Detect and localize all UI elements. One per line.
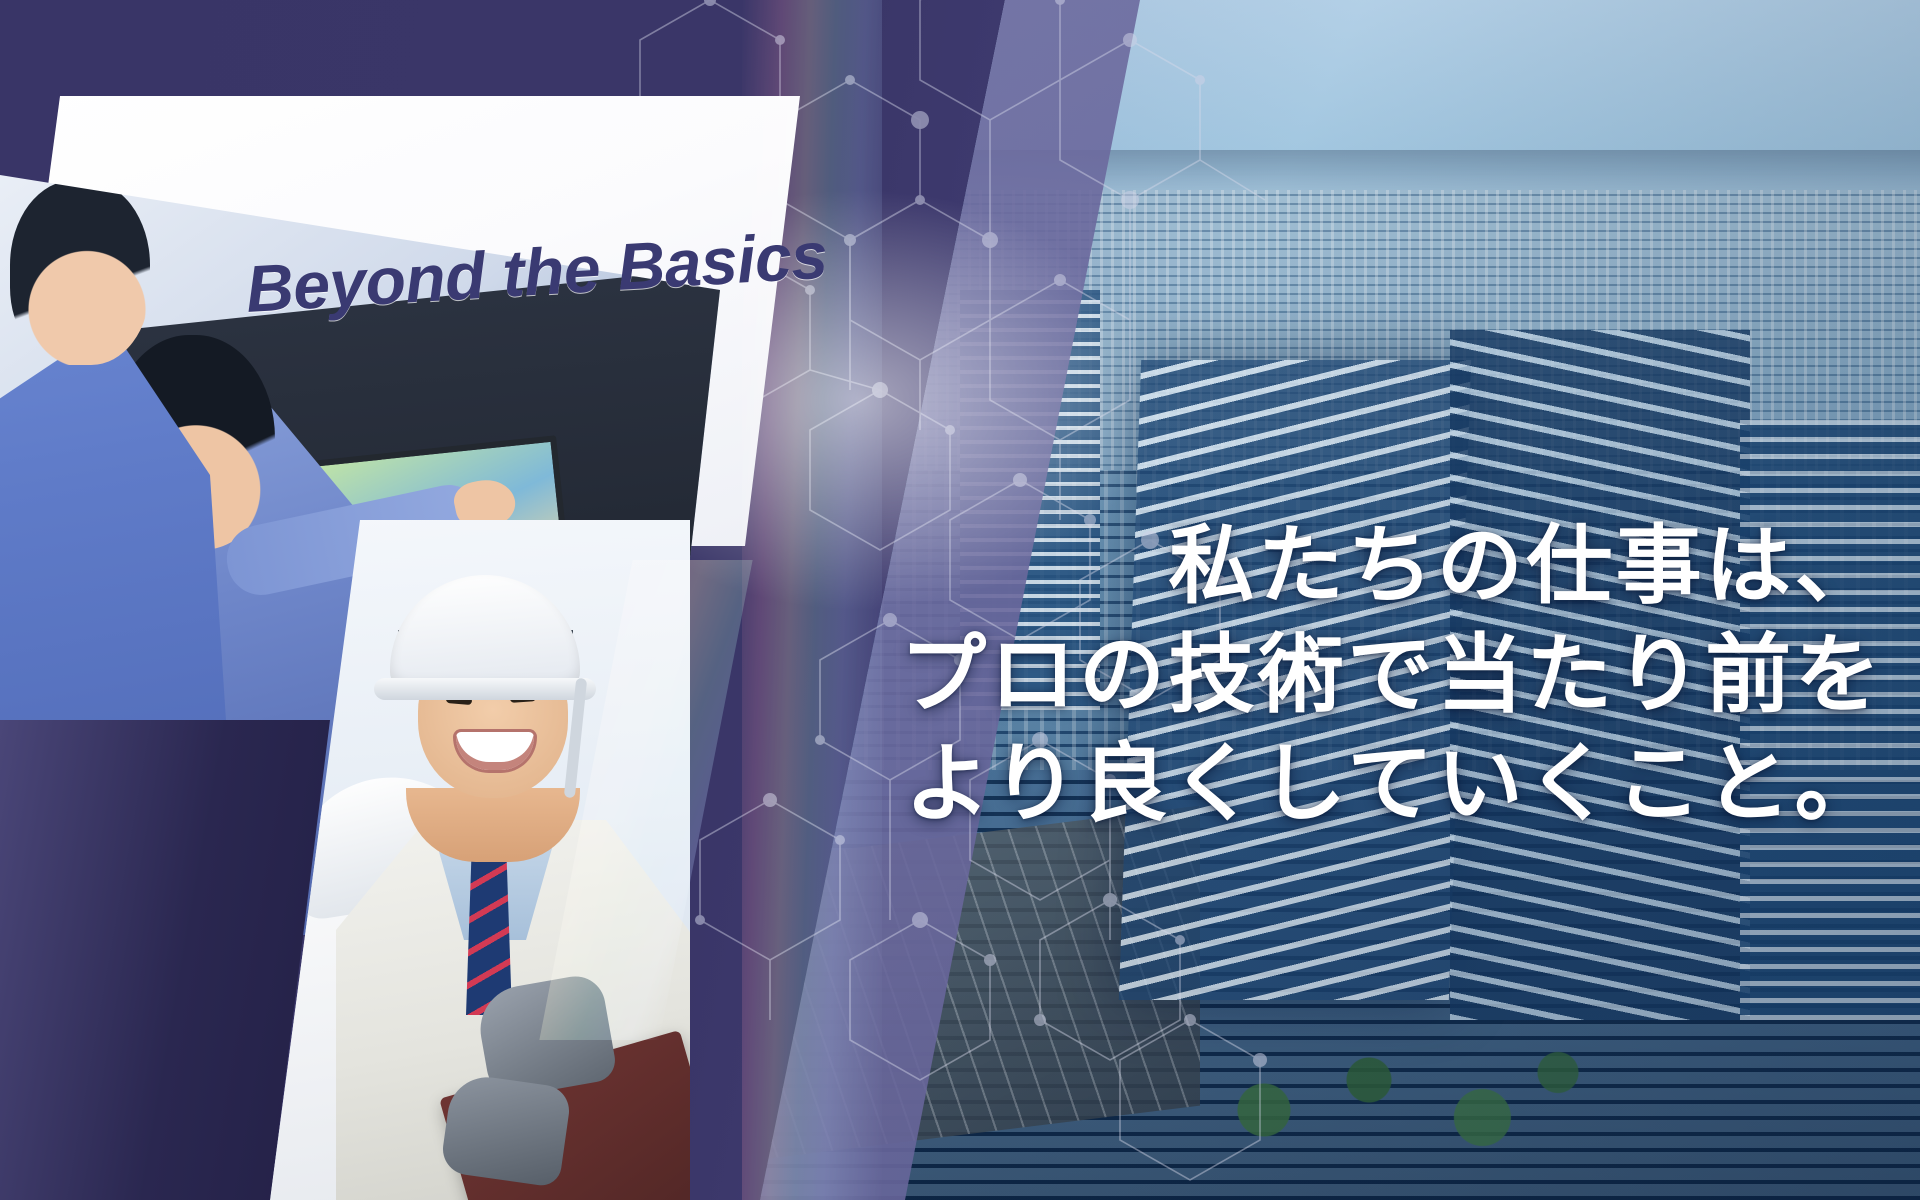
hero-banner: Beyond the Basics 私たちの仕事は、 プロの技術で当たり前を よ… xyxy=(0,0,1920,1200)
japanese-headline-line-2: プロの技術で当たり前を xyxy=(804,621,1884,730)
engineer-helmet xyxy=(390,575,580,690)
japanese-headline-line-3: より良くしていくこと。 xyxy=(804,730,1884,839)
japanese-headline: 私たちの仕事は、 プロの技術で当たり前を より良くしていくこと。 xyxy=(804,512,1884,840)
worker-back-head xyxy=(10,180,150,365)
japanese-headline-line-1: 私たちの仕事は、 xyxy=(804,512,1884,621)
engineer-glove-lower xyxy=(440,1072,573,1188)
